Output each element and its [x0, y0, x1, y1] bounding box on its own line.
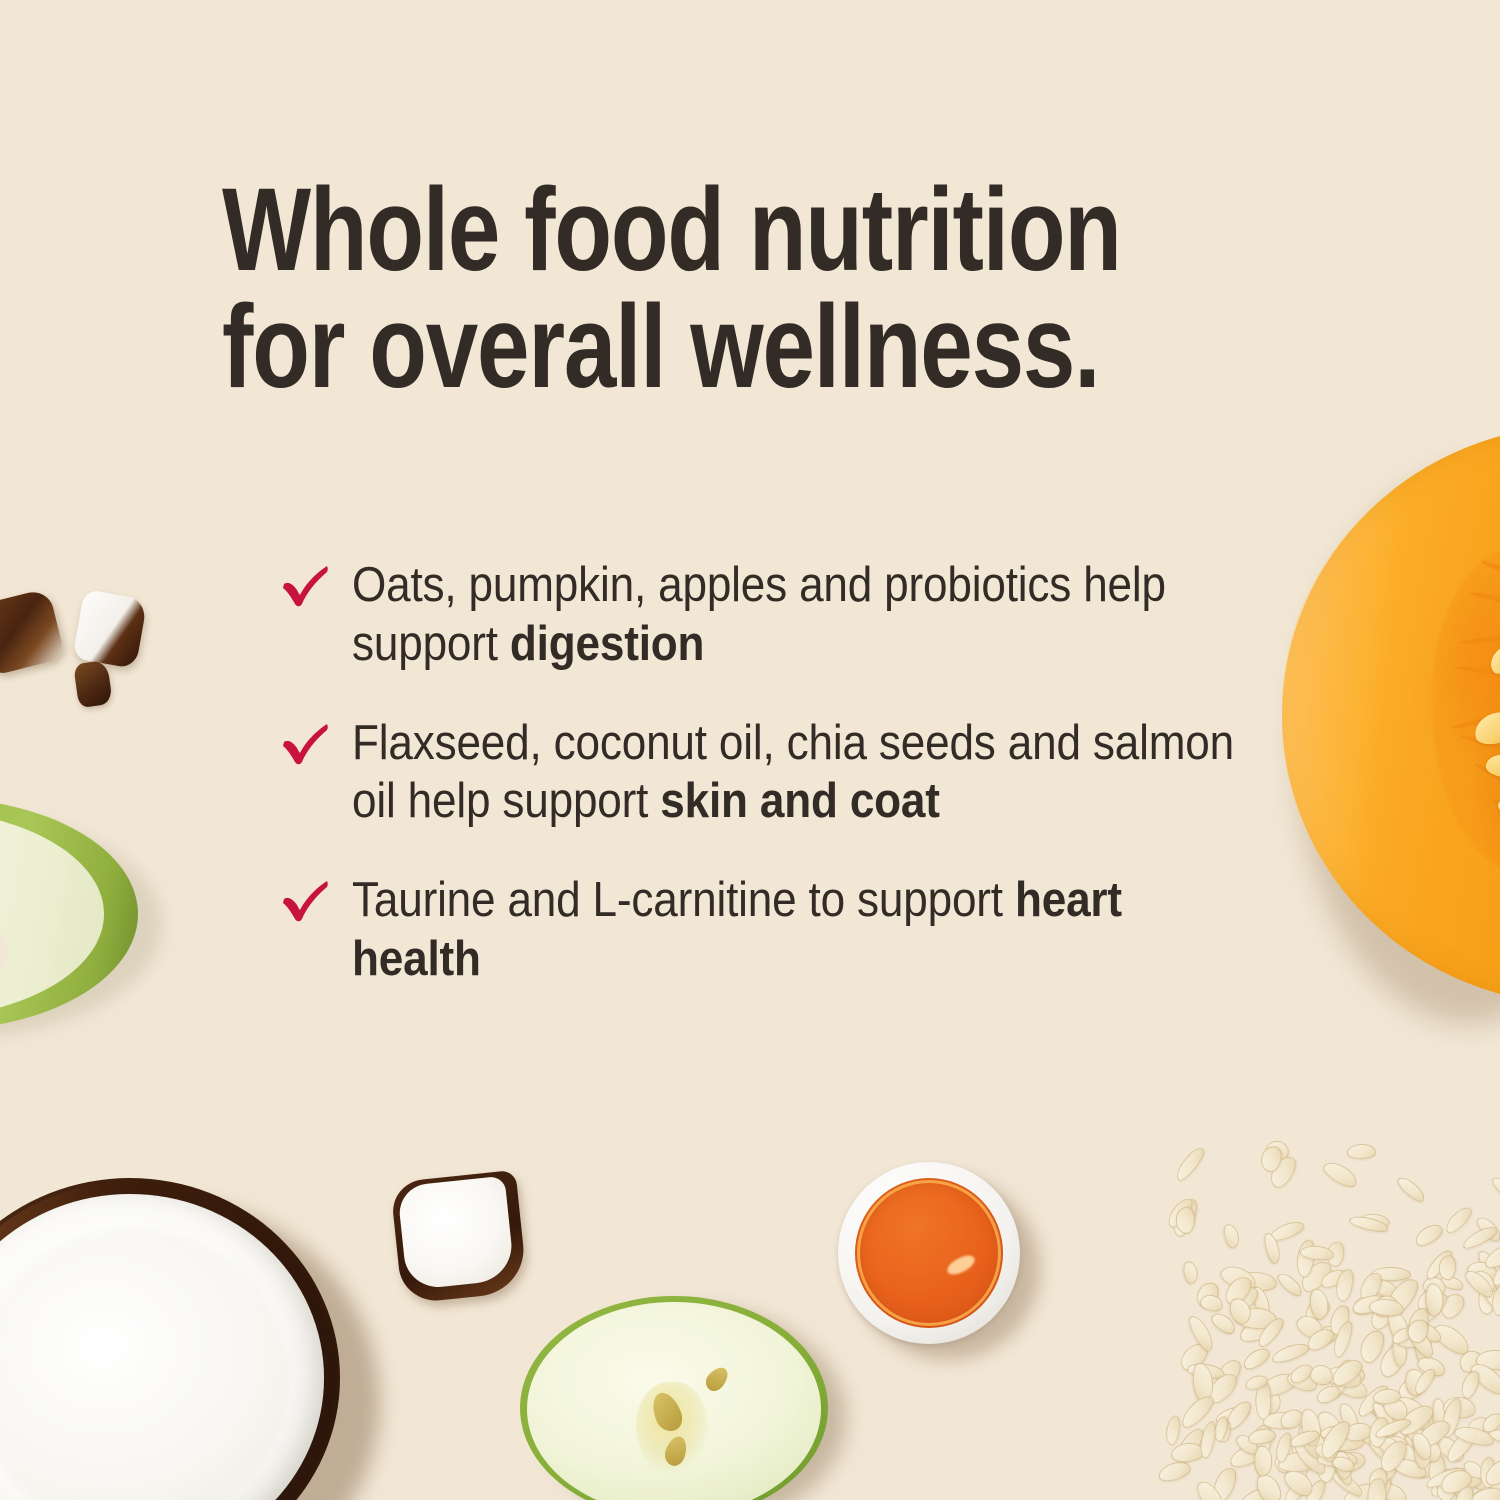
oat-flake [1221, 1222, 1241, 1250]
oat-flake [1164, 1415, 1181, 1446]
coconut-chunk-flesh [397, 1176, 515, 1291]
bullet-text-emphasis: digestion [510, 617, 704, 671]
oat-flake [1247, 1426, 1277, 1446]
list-item: Oats, pumpkin, apples and probiotics hel… [280, 556, 1240, 674]
oat-flake [1156, 1459, 1192, 1485]
pumpkin-half-image [1282, 425, 1500, 1015]
page-title: Whole food nutrition for overall wellnes… [222, 172, 1118, 406]
oat-flake [1346, 1144, 1375, 1159]
check-icon [280, 720, 332, 766]
green-apple-slice-image [0, 798, 168, 1038]
salmon-oil-bowl-image [838, 1162, 1038, 1362]
oat-flake [1395, 1174, 1428, 1205]
oat-flake [1320, 1157, 1360, 1190]
list-item-text: Taurine and L-carnitine to support heart… [352, 871, 1239, 989]
bullet-text-lead: Oats, pumpkin, apples and probiotics hel… [352, 558, 1166, 671]
oat-flake [1269, 1340, 1310, 1366]
list-item-text: Flaxseed, coconut oil, chia seeds and sa… [352, 714, 1239, 832]
oat-flake [1489, 1174, 1500, 1204]
coconut-chunk-image [396, 1176, 522, 1298]
oat-flake [1412, 1220, 1446, 1250]
oat-flake [1240, 1344, 1273, 1373]
benefits-list: Oats, pumpkin, apples and probiotics hel… [280, 556, 1240, 989]
list-item: Taurine and L-carnitine to support heart… [280, 871, 1240, 989]
rolled-oats-image [1140, 1132, 1500, 1500]
promo-graphic: Whole food nutrition for overall wellnes… [0, 0, 1500, 1500]
oat-flake [1254, 1446, 1272, 1477]
oat-flake [1170, 1441, 1205, 1464]
coconut-half-image [0, 1178, 390, 1500]
bullet-text-emphasis: skin and coat [660, 774, 939, 828]
list-item: Flaxseed, coconut oil, chia seeds and sa… [280, 714, 1240, 832]
headline-line-1: Whole food nutrition [222, 172, 1118, 289]
coconut-crumb-image [73, 660, 113, 708]
list-item-text: Oats, pumpkin, apples and probiotics hel… [352, 556, 1239, 674]
green-apple-half-image [520, 1296, 860, 1500]
headline-line-2: for overall wellness. [222, 289, 1118, 406]
coconut-chip-image [72, 589, 147, 669]
bullet-text-lead: Taurine and L-carnitine to support [352, 873, 1015, 927]
oil-meniscus [857, 1180, 1001, 1326]
coconut-chip-image [0, 588, 66, 676]
check-icon [280, 562, 332, 608]
oat-flake [1175, 1207, 1195, 1234]
oat-flake [1181, 1260, 1199, 1285]
oat-flake [1172, 1144, 1207, 1184]
oat-flake [1442, 1204, 1475, 1237]
check-icon [280, 877, 332, 923]
